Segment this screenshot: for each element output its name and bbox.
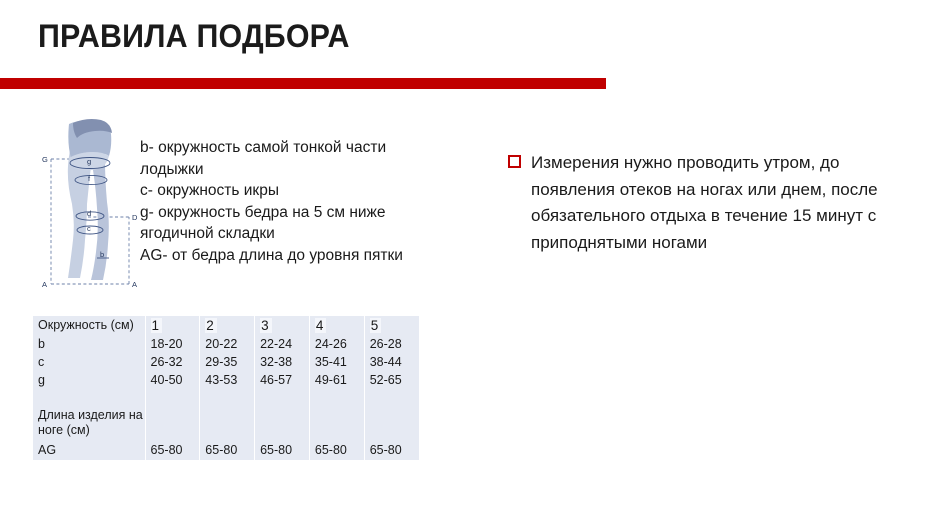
row-cell: [309, 389, 364, 406]
key-line-ag: AG- от бедра длина до уровня пятки: [140, 245, 440, 267]
col-number-3: 3: [260, 318, 272, 333]
row-cell: [255, 406, 310, 441]
col-number-2: 2: [205, 318, 217, 333]
table-row-header: Окружность (см) 1 2 3 4 5: [33, 316, 419, 335]
slide-root: ПРАВИЛА ПОДБОРА: [0, 0, 928, 505]
measurement-key-text: b- окружность самой тонкой части лодыжки…: [140, 137, 440, 266]
list-item: Измерения нужно проводить утром, до появ…: [508, 150, 906, 256]
svg-text:A: A: [42, 280, 47, 289]
table-header-col-1: 1: [145, 316, 200, 335]
row-label: c: [33, 353, 145, 371]
table-row: b 18-20 20-22 22-24 24-26 26-28: [33, 335, 419, 353]
row-cell: 38-44: [364, 353, 419, 371]
row-label: b: [33, 335, 145, 353]
leg-measurement-diagram: g f d c b G D A A: [33, 112, 143, 297]
col-number-1: 1: [151, 318, 163, 333]
row-cell: 26-28: [364, 335, 419, 353]
size-chart-table: Окружность (см) 1 2 3 4 5 b 18-20 20-22 …: [33, 316, 419, 460]
row-cell: 65-80: [255, 441, 310, 460]
advice-bullet-list: Измерения нужно проводить утром, до появ…: [508, 150, 906, 256]
row-cell: [309, 406, 364, 441]
table-row: c 26-32 29-35 32-38 35-41 38-44: [33, 353, 419, 371]
row-cell: 65-80: [309, 441, 364, 460]
table-header-col-5: 5: [364, 316, 419, 335]
row-cell: 32-38: [255, 353, 310, 371]
svg-text:d: d: [87, 209, 91, 218]
svg-text:g: g: [87, 157, 91, 166]
row-cell: 20-22: [200, 335, 255, 353]
table-header-label: Окружность (см): [33, 316, 145, 335]
row-label: AG: [33, 441, 145, 460]
row-cell: [200, 406, 255, 441]
row-cell: [145, 406, 200, 441]
table-header-col-2: 2: [200, 316, 255, 335]
bullet-text: Измерения нужно проводить утром, до появ…: [531, 153, 878, 252]
row-label: [33, 389, 145, 406]
key-line-c: c- окружность икры: [140, 180, 440, 202]
row-cell: [200, 389, 255, 406]
svg-text:D: D: [132, 213, 138, 222]
table-row: AG 65-80 65-80 65-80 65-80 65-80: [33, 441, 419, 460]
table-row: g 40-50 43-53 46-57 49-61 52-65: [33, 371, 419, 389]
row-label: Длина изделия на ноге (см): [33, 406, 145, 441]
svg-text:c: c: [87, 224, 91, 233]
table-row: Длина изделия на ноге (см): [33, 406, 419, 441]
square-bullet-icon: [508, 155, 521, 168]
row-cell: 26-32: [145, 353, 200, 371]
row-cell: [364, 389, 419, 406]
row-cell: [255, 389, 310, 406]
row-cell: [364, 406, 419, 441]
row-cell: 43-53: [200, 371, 255, 389]
row-cell: 40-50: [145, 371, 200, 389]
row-cell: 65-80: [145, 441, 200, 460]
svg-text:G: G: [42, 155, 48, 164]
row-cell: 18-20: [145, 335, 200, 353]
row-cell: 29-35: [200, 353, 255, 371]
title-accent-rule: [0, 78, 606, 89]
row-cell: 35-41: [309, 353, 364, 371]
row-cell: 65-80: [364, 441, 419, 460]
row-cell: 49-61: [309, 371, 364, 389]
page-title: ПРАВИЛА ПОДБОРА: [38, 18, 350, 55]
svg-text:A: A: [132, 280, 137, 289]
key-line-b: b- окружность самой тонкой части лодыжки: [140, 137, 440, 180]
row-cell: 52-65: [364, 371, 419, 389]
row-cell: 22-24: [255, 335, 310, 353]
table-row-spacer: [33, 389, 419, 406]
row-cell: 46-57: [255, 371, 310, 389]
table-header-col-4: 4: [309, 316, 364, 335]
col-number-4: 4: [315, 318, 327, 333]
svg-text:b: b: [100, 250, 104, 259]
row-cell: 24-26: [309, 335, 364, 353]
row-cell: [145, 389, 200, 406]
col-number-5: 5: [370, 318, 382, 333]
table-header-col-3: 3: [255, 316, 310, 335]
row-label: g: [33, 371, 145, 389]
row-cell: 65-80: [200, 441, 255, 460]
key-line-g: g- окружность бедра на 5 см ниже ягодичн…: [140, 202, 440, 245]
